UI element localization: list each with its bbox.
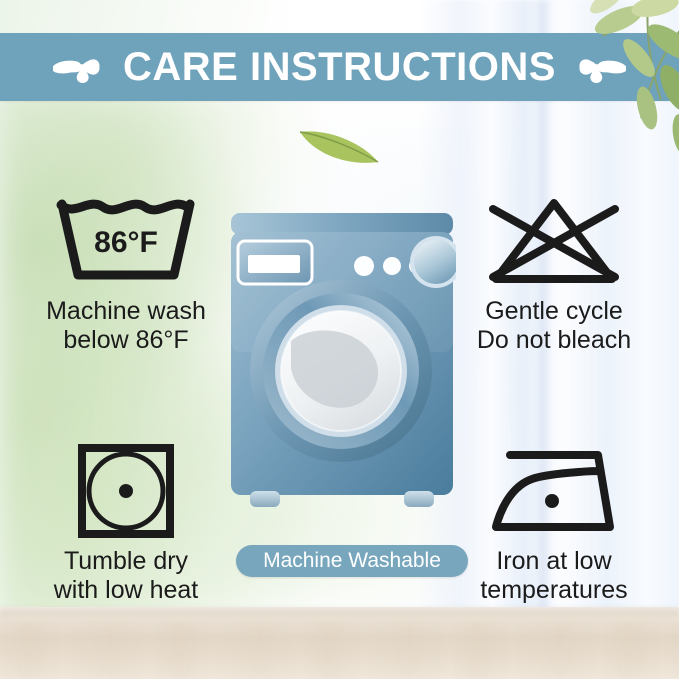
wash-temperature-label: 86°F [94, 226, 158, 259]
machine-wash-tub-icon: 86°F [53, 193, 199, 289]
care-item-label: Gentle cycle Do not bleach [477, 297, 631, 355]
care-item-tumble-dry: Tumble dry with low heat [8, 443, 244, 605]
tumble-dry-low-icon [76, 443, 176, 539]
background-wood-grain [0, 621, 679, 679]
background-wood-edge [0, 605, 679, 619]
fleur-de-lis-icon [570, 44, 626, 90]
washer-detergent-drawer [238, 241, 312, 284]
do-not-bleach-triangle-icon [481, 193, 627, 289]
floating-leaf-icon [296, 122, 382, 168]
care-item-do-not-bleach: Gentle cycle Do not bleach [436, 193, 672, 355]
care-item-label: Iron at low temperatures [480, 547, 627, 605]
care-item-iron: Iron at low temperatures [436, 443, 672, 605]
washer-door [250, 280, 432, 462]
care-item-label: Machine wash below 86°F [46, 297, 206, 355]
washing-machine-illustration [228, 208, 456, 528]
fleur-de-lis-icon [53, 44, 109, 90]
header-banner: CARE INSTRUCTIONS [0, 33, 679, 101]
care-instructions-infographic: CARE INSTRUCTIONS [0, 0, 679, 679]
care-item-machine-wash: 86°F Machine wash below 86°F [8, 193, 244, 355]
badge-label: Machine Washable [263, 549, 441, 573]
washer-top-lid [231, 213, 453, 235]
iron-low-temperature-icon [486, 443, 622, 539]
page-title: CARE INSTRUCTIONS [123, 47, 556, 87]
machine-washable-badge: Machine Washable [236, 545, 468, 577]
care-item-label: Tumble dry with low heat [54, 547, 199, 605]
